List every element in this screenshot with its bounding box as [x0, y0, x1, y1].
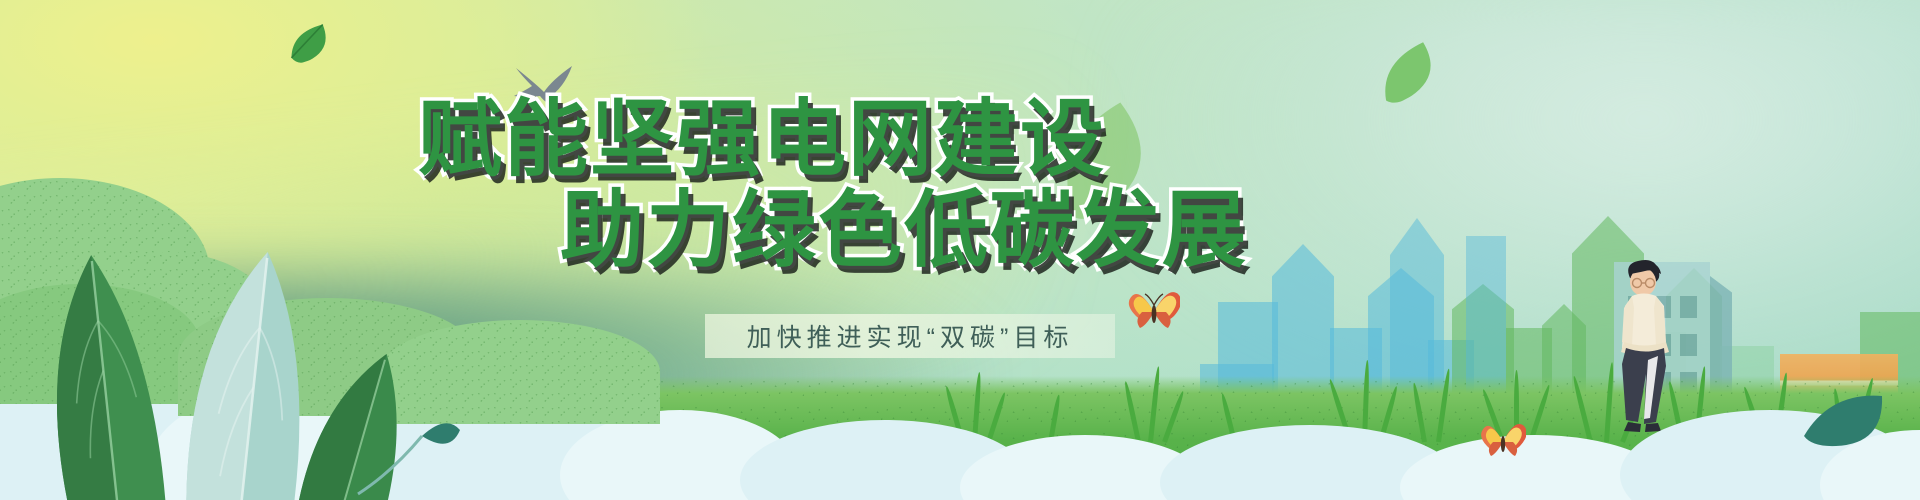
eco-power-grid-banner: 赋能坚强电网建设 助力绿色低碳发展 加快推进实现“双碳”目标: [0, 0, 1920, 500]
banner-text-block: 赋能坚强电网建设 助力绿色低碳发展 加快推进实现“双碳”目标: [0, 0, 1920, 500]
subtitle-text: 加快推进实现“双碳”目标: [705, 314, 1115, 358]
headline-line-2: 助力绿色低碳发展: [560, 163, 1248, 284]
